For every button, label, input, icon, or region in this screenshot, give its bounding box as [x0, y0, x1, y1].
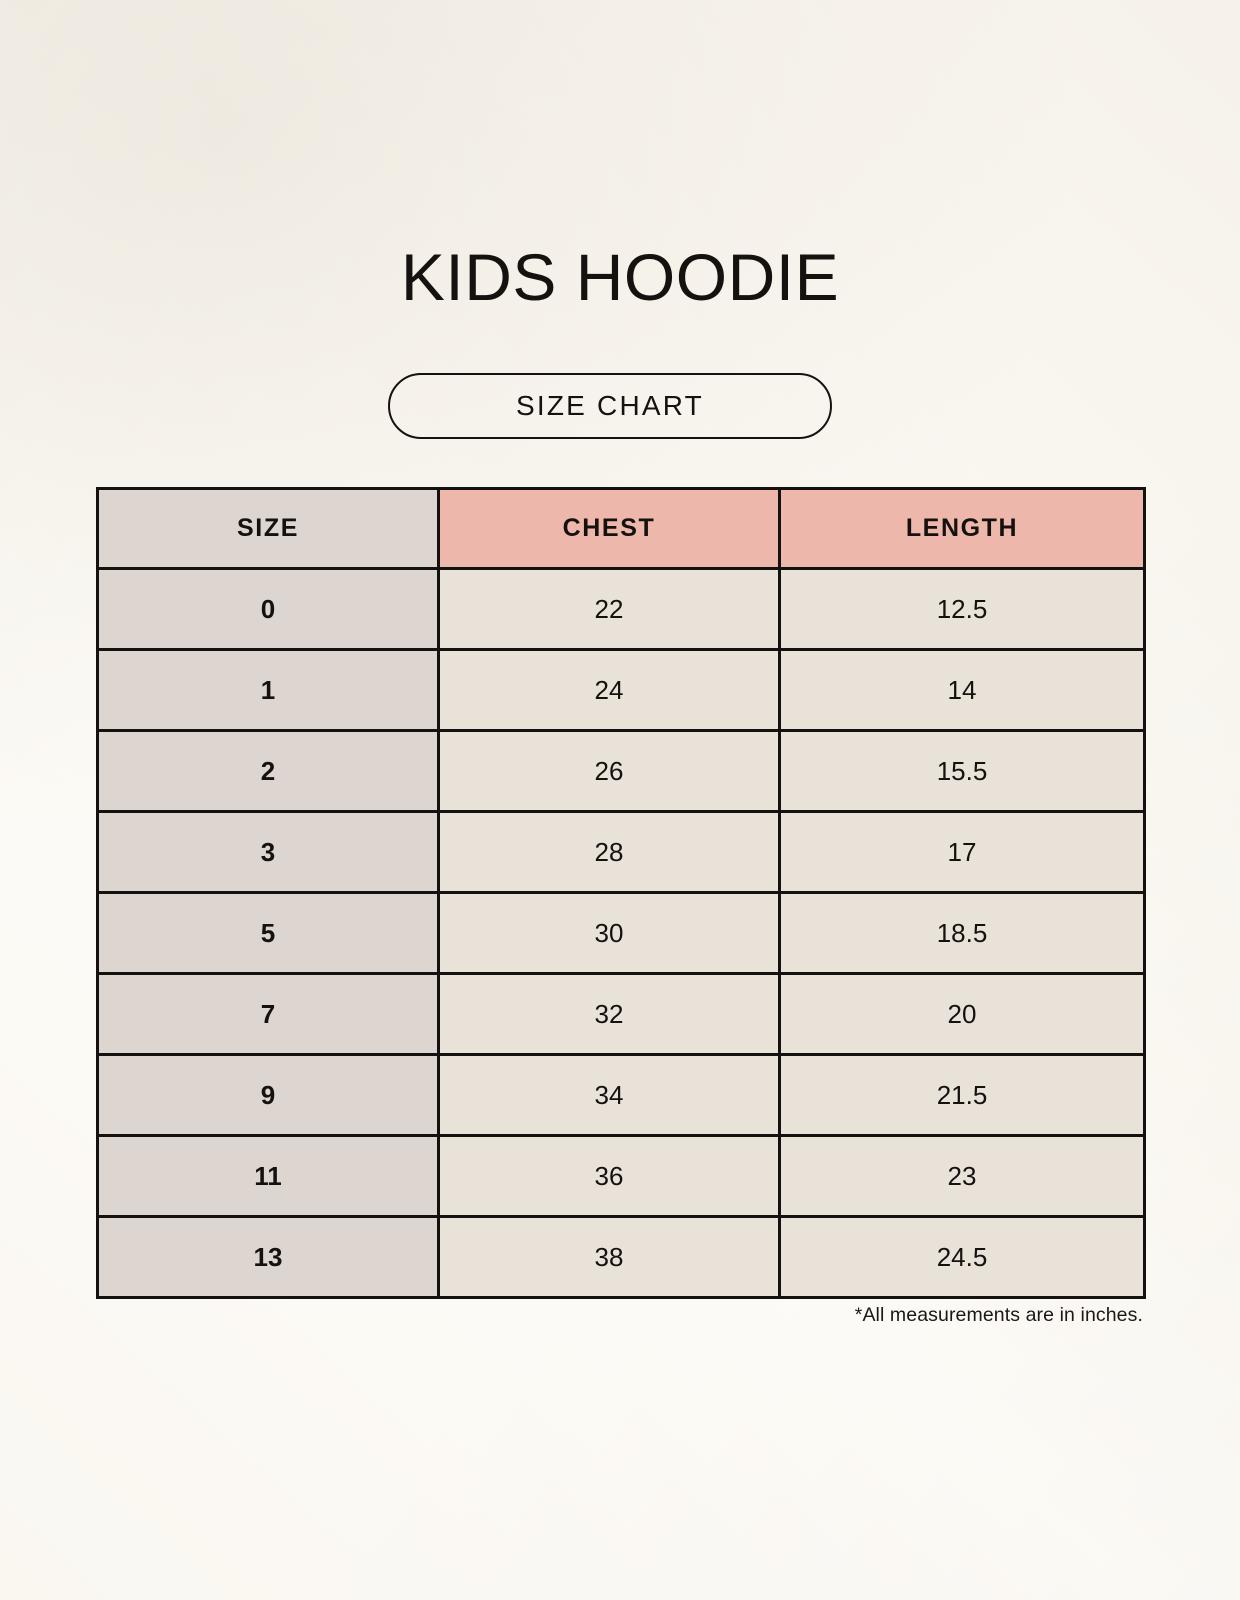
- cell-chest: 36: [439, 1136, 780, 1217]
- table-row: 02212.5: [98, 569, 1145, 650]
- table-row: 12414: [98, 650, 1145, 731]
- size-chart-badge-label: SIZE CHART: [516, 390, 704, 422]
- cell-chest: 38: [439, 1217, 780, 1298]
- measurement-unit-footnote: *All measurements are in inches.: [855, 1304, 1143, 1327]
- table-row: 53018.5: [98, 893, 1145, 974]
- cell-size: 0: [98, 569, 439, 650]
- cell-length: 24.5: [780, 1217, 1145, 1298]
- cell-length: 23: [780, 1136, 1145, 1217]
- column-header-length: LENGTH: [780, 489, 1145, 569]
- table-row: 113623: [98, 1136, 1145, 1217]
- table-row: 133824.5: [98, 1217, 1145, 1298]
- cell-chest: 22: [439, 569, 780, 650]
- cell-length: 12.5: [780, 569, 1145, 650]
- table-header: SIZE CHEST LENGTH: [98, 489, 1145, 569]
- size-chart-badge: SIZE CHART: [388, 373, 832, 439]
- cell-chest: 34: [439, 1055, 780, 1136]
- cell-size: 5: [98, 893, 439, 974]
- table-header-row: SIZE CHEST LENGTH: [98, 489, 1145, 569]
- cell-size: 3: [98, 812, 439, 893]
- cell-size: 9: [98, 1055, 439, 1136]
- table-row: 22615.5: [98, 731, 1145, 812]
- cell-size: 2: [98, 731, 439, 812]
- cell-length: 17: [780, 812, 1145, 893]
- cell-size: 7: [98, 974, 439, 1055]
- size-chart-table: SIZE CHEST LENGTH 02212.51241422615.5328…: [96, 487, 1146, 1299]
- page-title: KIDS HOODIE: [0, 244, 1240, 310]
- cell-length: 15.5: [780, 731, 1145, 812]
- table-body: 02212.51241422615.53281753018.5732209342…: [98, 569, 1145, 1298]
- cell-size: 1: [98, 650, 439, 731]
- column-header-size: SIZE: [98, 489, 439, 569]
- cell-length: 18.5: [780, 893, 1145, 974]
- cell-chest: 24: [439, 650, 780, 731]
- cell-size: 13: [98, 1217, 439, 1298]
- table-row: 93421.5: [98, 1055, 1145, 1136]
- cell-length: 14: [780, 650, 1145, 731]
- table-row: 73220: [98, 974, 1145, 1055]
- column-header-chest: CHEST: [439, 489, 780, 569]
- size-chart-page: KIDS HOODIE SIZE CHART SIZE CHEST LENGTH…: [0, 0, 1240, 1600]
- cell-chest: 30: [439, 893, 780, 974]
- cell-length: 20: [780, 974, 1145, 1055]
- cell-chest: 26: [439, 731, 780, 812]
- cell-chest: 32: [439, 974, 780, 1055]
- cell-chest: 28: [439, 812, 780, 893]
- cell-length: 21.5: [780, 1055, 1145, 1136]
- cell-size: 11: [98, 1136, 439, 1217]
- table-row: 32817: [98, 812, 1145, 893]
